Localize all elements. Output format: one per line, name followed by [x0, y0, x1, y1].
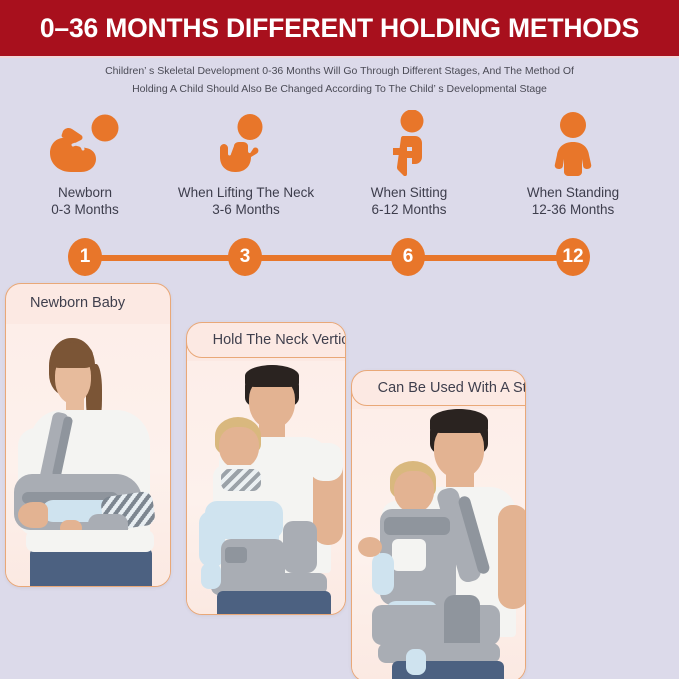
subtitle-block: Children’ s Skeletal Development 0-36 Mo…	[0, 62, 679, 98]
stage-item-newborn: Newborn 0-3 Months	[0, 112, 170, 218]
stage-age: 0-3 Months	[0, 201, 170, 218]
baby-sitting-icon	[324, 112, 494, 176]
baby-standing-icon	[488, 112, 658, 176]
subtitle-line-2: Holding A Child Should Also Be Changed A…	[0, 80, 679, 98]
father-hip-seat-hold-photo	[187, 361, 345, 614]
stage-label-sitting: When Sitting 6-12 Months	[324, 184, 494, 218]
photo-card-label: Can Be Used With A Strap After 6 Months	[351, 370, 526, 406]
stage-list: Newborn 0-3 Months When Lifting The Neck…	[0, 112, 679, 222]
infographic-root: 0–36 MONTHS DIFFERENT HOLDING METHODS Ch…	[0, 0, 679, 679]
stage-title: Newborn	[0, 184, 170, 201]
stage-title: When Lifting The Neck	[161, 184, 331, 201]
stage-label-standing: When Standing 12-36 Months	[488, 184, 658, 218]
stage-item-sitting: When Sitting 6-12 Months	[324, 112, 494, 218]
baby-head-up-icon	[161, 112, 331, 176]
stage-item-lifting-neck: When Lifting The Neck 3-6 Months	[161, 112, 331, 218]
stage-age: 6-12 Months	[324, 201, 494, 218]
stage-title: When Standing	[488, 184, 658, 201]
page-title: 0–36 MONTHS DIFFERENT HOLDING METHODS	[40, 13, 639, 44]
mother-cradle-hold-photo	[6, 324, 170, 586]
photo-card-hold-neck[interactable]: Hold The Neck Vertically (3-6 Months)	[186, 322, 346, 615]
subtitle-line-1: Children’ s Skeletal Development 0-36 Mo…	[0, 62, 679, 80]
header-divider	[0, 56, 679, 58]
stage-item-standing: When Standing 12-36 Months	[488, 112, 658, 218]
timeline-node-12[interactable]: 12	[556, 238, 590, 276]
baby-lying-icon	[0, 112, 170, 176]
timeline-node-3[interactable]: 3	[228, 238, 262, 276]
stage-label-lifting-neck: When Lifting The Neck 3-6 Months	[161, 184, 331, 218]
stage-age: 12-36 Months	[488, 201, 658, 218]
stage-title: When Sitting	[324, 184, 494, 201]
header-bar: 0–36 MONTHS DIFFERENT HOLDING METHODS	[0, 0, 679, 56]
photo-card-strap[interactable]: Can Be Used With A Strap After 6 Months	[351, 370, 526, 679]
timeline-track	[85, 255, 574, 261]
timeline-node-1[interactable]: 1	[68, 238, 102, 276]
stage-age: 3-6 Months	[161, 201, 331, 218]
stage-label-newborn: Newborn 0-3 Months	[0, 184, 170, 218]
timeline-node-6[interactable]: 6	[391, 238, 425, 276]
father-strap-carrier-photo	[352, 409, 525, 679]
photo-card-label: Newborn Baby	[6, 284, 170, 311]
timeline: 1 3 6 12	[0, 238, 679, 278]
photo-card-label: Hold The Neck Vertically (3-6 Months)	[186, 322, 346, 358]
photo-card-newborn[interactable]: Newborn Baby	[5, 283, 171, 587]
